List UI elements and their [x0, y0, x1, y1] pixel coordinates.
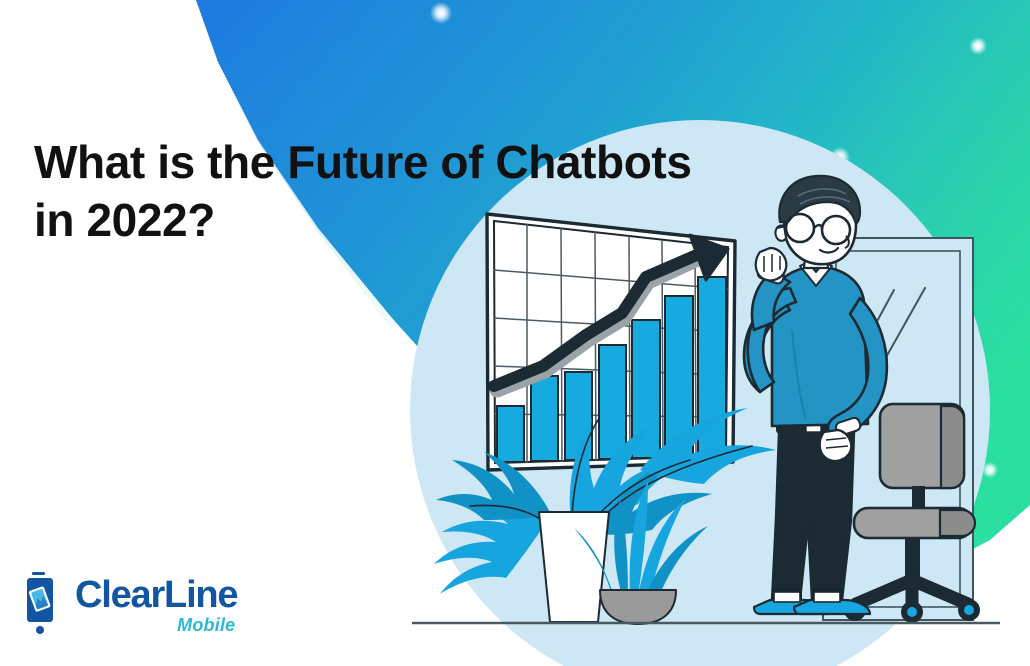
sparkle-icon: [969, 37, 987, 55]
chart-bar: [531, 376, 558, 461]
sparkle-icon: [430, 2, 452, 24]
hand-adjusting-glasses: [756, 248, 787, 280]
mobile-phone-icon: [26, 569, 66, 641]
white-plant-pot: [539, 512, 609, 622]
logo-subtitle: Mobile: [177, 616, 235, 634]
chart-bar: [599, 345, 626, 459]
chart-bar: [497, 406, 524, 462]
brand-logo[interactable]: ClearLine Mobile: [26, 566, 256, 644]
logo-name: ClearLine: [75, 576, 237, 614]
logo-wordmark: ClearLine Mobile: [75, 576, 237, 634]
banner-canvas: What is the Future of Chatbots in 2022? …: [0, 0, 1030, 666]
